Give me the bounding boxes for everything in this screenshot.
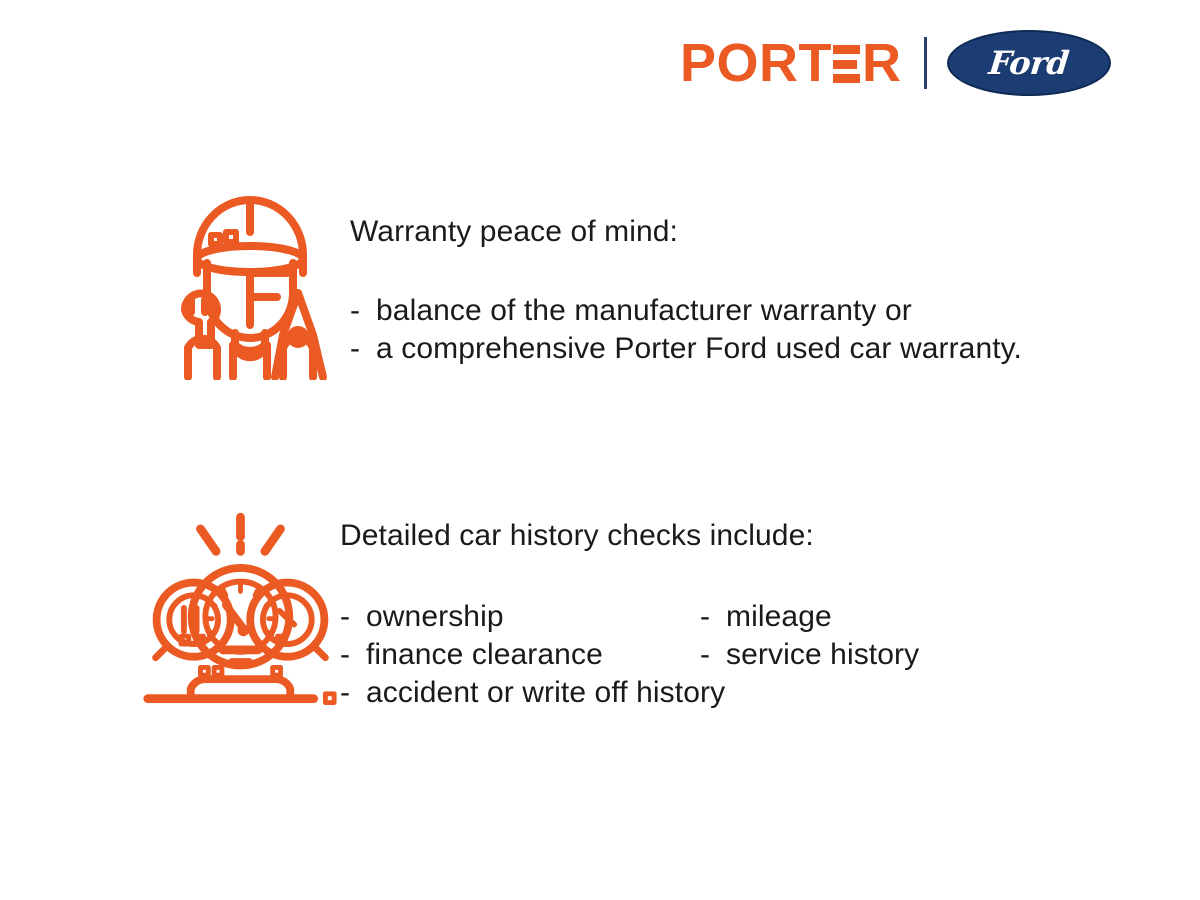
list-item: - a comprehensive Porter Ford used car w… [350,330,1180,368]
section-history-checks: Detailed car history checks include: - o… [140,505,1180,713]
section-heading: Warranty peace of mind: [350,215,1180,250]
list-item-label: balance of the manufacturer warranty or [376,292,912,330]
car-dashboard-gauges-icon-svg [140,505,340,705]
history-text-group: Detailed car history checks include: - o… [340,505,1180,713]
list-item-label: accident or write off history [366,674,725,712]
list-item-label: mileage [726,598,832,636]
list-item-cell-right: - service history [700,636,919,674]
list-item-cell-left: - accident or write off history [340,674,700,712]
list-item-cell-right: - mileage [700,598,832,636]
bullet-dash: - [340,674,366,712]
bullet-dash: - [340,598,366,636]
list-item-label: service history [726,636,919,674]
list-item-cell-left: - ownership [340,598,700,636]
bullet-dash: - [340,636,366,674]
list-item: - accident or write off history [340,674,1180,712]
mechanic-icon [150,185,350,380]
porter-text-after-e: R [862,36,902,90]
list-item-label: finance clearance [366,636,603,674]
section-heading: Detailed car history checks include: [340,519,1180,554]
history-bullet-list: - ownership - mileage - finance clearanc… [340,598,1180,713]
ford-logo: Ford [947,30,1111,96]
ford-logo-text: Ford [987,44,1071,82]
bullet-dash: - [700,636,726,674]
warranty-text-group: Warranty peace of mind: - balance of the… [350,185,1180,368]
car-dashboard-gauges-icon [140,505,340,705]
slide-canvas: PORT R Ford [0,0,1200,900]
list-item: - balance of the manufacturer warranty o… [350,292,1180,330]
section-warranty: Warranty peace of mind: - balance of the… [150,185,1180,380]
porter-stylized-e-icon [833,45,860,83]
porter-wordmark: PORT R [680,38,902,88]
brand-lockup: PORT R Ford [680,28,1140,98]
bullet-dash: - [350,292,376,330]
bullet-dash: - [700,598,726,636]
warranty-bullet-list: - balance of the manufacturer warranty o… [350,292,1180,369]
porter-text-before-e: PORT [680,36,832,90]
list-item-cell-left: - finance clearance [340,636,700,674]
list-item-label: a comprehensive Porter Ford used car war… [376,330,1022,368]
bullet-dash: - [350,330,376,368]
list-item-label: ownership [366,598,504,636]
list-item: - finance clearance - service history [340,636,1180,674]
mechanic-icon-svg [155,185,345,380]
list-item: - ownership - mileage [340,598,1180,636]
brand-divider [924,37,927,89]
